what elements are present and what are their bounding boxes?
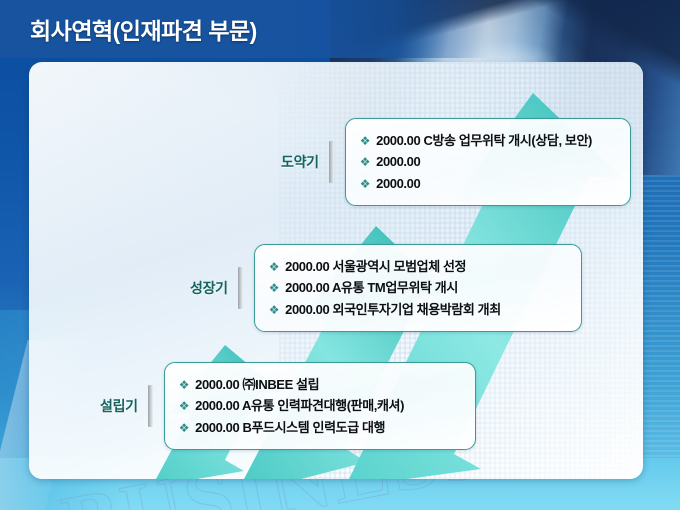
timeline-row-founding: 설립기 ❖ 2000.00 ㈜INBEE 설립 ❖ 2000.00 A유통 인력… xyxy=(100,362,476,450)
slide-canvas: BUSINESS 회사연혁(인재파견 부문) xyxy=(0,0,680,510)
diamond-bullet-icon: ❖ xyxy=(360,175,370,194)
list-item: ❖ 2000.00 xyxy=(360,173,614,194)
diamond-bullet-icon: ❖ xyxy=(179,376,189,395)
stage-label-founding: 설립기 xyxy=(100,396,138,416)
stage-label-growth: 성장기 xyxy=(190,278,228,298)
list-item-text: 2000.00 xyxy=(376,151,420,172)
diamond-bullet-icon: ❖ xyxy=(269,279,279,298)
list-item-text: 2000.00 서울광역시 모범업체 선정 xyxy=(285,256,466,277)
info-box-leap[interactable]: ❖ 2000.00 C방송 업무위탁 개시(상담, 보안) ❖ 2000.00 … xyxy=(345,118,631,206)
stage-divider-leap xyxy=(329,141,334,183)
list-item-text: 2000.00 A유통 TM업무위탁 개시 xyxy=(285,277,458,298)
stage-label-leap: 도약기 xyxy=(281,152,319,172)
info-box-founding[interactable]: ❖ 2000.00 ㈜INBEE 설립 ❖ 2000.00 A유통 인력파견대행… xyxy=(164,362,476,450)
diamond-bullet-icon: ❖ xyxy=(269,301,279,320)
list-item: ❖ 2000.00 외국인투자기업 채용박람회 개최 xyxy=(269,299,565,320)
list-item-text: 2000.00 A유통 인력파견대행(판매,캐셔) xyxy=(195,395,404,416)
list-item-text: 2000.00 xyxy=(376,173,420,194)
diamond-bullet-icon: ❖ xyxy=(360,132,370,151)
diamond-bullet-icon: ❖ xyxy=(179,397,189,416)
list-item-text: 2000.00 외국인투자기업 채용박람회 개최 xyxy=(285,299,501,320)
info-box-growth[interactable]: ❖ 2000.00 서울광역시 모범업체 선정 ❖ 2000.00 A유통 TM… xyxy=(254,244,582,332)
list-item: ❖ 2000.00 A유통 TM업무위탁 개시 xyxy=(269,277,565,298)
list-item: ❖ 2000.00 C방송 업무위탁 개시(상담, 보안) xyxy=(360,130,614,151)
diamond-bullet-icon: ❖ xyxy=(179,419,189,438)
stage-divider-founding xyxy=(148,385,153,427)
stage-divider-growth xyxy=(238,267,243,309)
list-item: ❖ 2000.00 xyxy=(360,151,614,172)
list-item-text: 2000.00 B푸드시스템 인력도급 대행 xyxy=(195,417,385,438)
diamond-bullet-icon: ❖ xyxy=(269,258,279,277)
list-item: ❖ 2000.00 A유통 인력파견대행(판매,캐셔) xyxy=(179,395,459,416)
list-item: ❖ 2000.00 서울광역시 모범업체 선정 xyxy=(269,256,565,277)
list-item-text: 2000.00 C방송 업무위탁 개시(상담, 보안) xyxy=(376,130,592,151)
page-title: 회사연혁(인재파견 부문) xyxy=(30,12,257,46)
list-item-text: 2000.00 ㈜INBEE 설립 xyxy=(195,374,319,395)
diamond-bullet-icon: ❖ xyxy=(360,153,370,172)
timeline-row-leap: 도약기 ❖ 2000.00 C방송 업무위탁 개시(상담, 보안) ❖ 2000… xyxy=(281,118,631,206)
list-item: ❖ 2000.00 B푸드시스템 인력도급 대행 xyxy=(179,417,459,438)
list-item: ❖ 2000.00 ㈜INBEE 설립 xyxy=(179,374,459,395)
timeline-row-growth: 성장기 ❖ 2000.00 서울광역시 모범업체 선정 ❖ 2000.00 A유… xyxy=(190,244,582,332)
